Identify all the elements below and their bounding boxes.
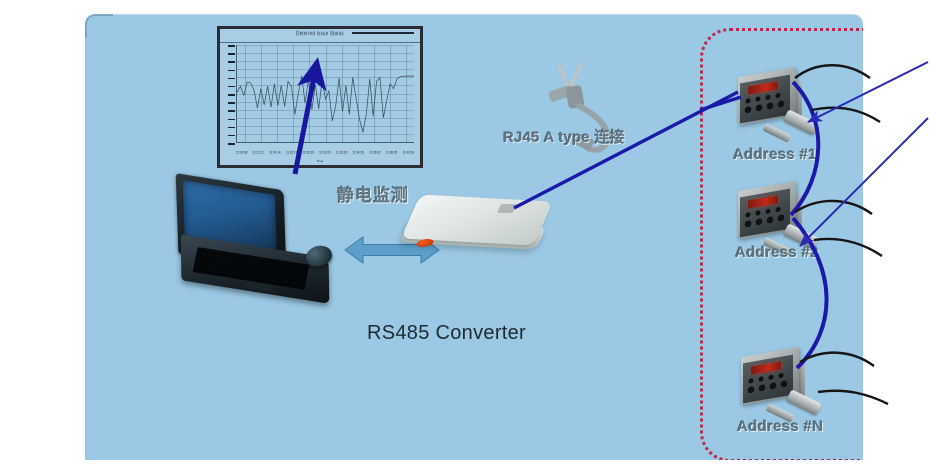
sensor-label-2: Address #2 [735, 244, 863, 261]
chart-x-tick-label: 11:20:08 [236, 149, 247, 154]
chart-x-tick-label: 11:22:11 [253, 149, 264, 154]
chart-y-tick [228, 102, 235, 104]
chart-title-rule [352, 32, 414, 34]
chart-x-tick-label: 11:32:26 [336, 149, 347, 154]
rs485-converter-label: RS485 Converter [367, 322, 526, 345]
chart-titlebar: Deterred Issue Status [220, 29, 420, 43]
converter-top-surface [401, 194, 553, 245]
chart-y-tick [228, 86, 235, 88]
chart-y-tick [228, 70, 235, 72]
sensor-node-1 [730, 68, 850, 154]
chart-y-tick [228, 94, 235, 96]
chart-y-tick [228, 45, 235, 47]
chart-x-tick-label: 11:40:38 [402, 149, 413, 154]
rs485-converter-device [395, 192, 561, 272]
sensor-probe-tip [763, 123, 792, 142]
chart-y-tick [228, 143, 235, 145]
sensor-label-n: Address #N [737, 418, 863, 435]
panel-corner-accent [85, 14, 113, 38]
chart-x-tick-label: 11:38:35 [386, 149, 397, 154]
chart-y-tick [228, 53, 235, 55]
arrow-laptop-to-chart [275, 52, 335, 182]
chart-y-axis-ticks [228, 45, 236, 143]
chart-y-tick [228, 110, 235, 112]
diagram-panel: Deterred Issue Status 11:20:0811:22:1111… [85, 14, 863, 460]
chart-y-tick [228, 78, 235, 80]
chart-x-tick-label: 11:36:32 [369, 149, 380, 154]
laptop-computer [175, 182, 340, 297]
rj45-label: RJ45 A type 连接 [503, 126, 625, 147]
chart-x-tick-label: 11:34:29 [352, 149, 363, 154]
chart-y-tick [228, 61, 235, 63]
chart-y-tick [228, 135, 235, 137]
chart-y-tick [228, 119, 235, 121]
chart-y-tick [228, 127, 235, 129]
sensor-label-1: Address #1 [733, 146, 863, 163]
